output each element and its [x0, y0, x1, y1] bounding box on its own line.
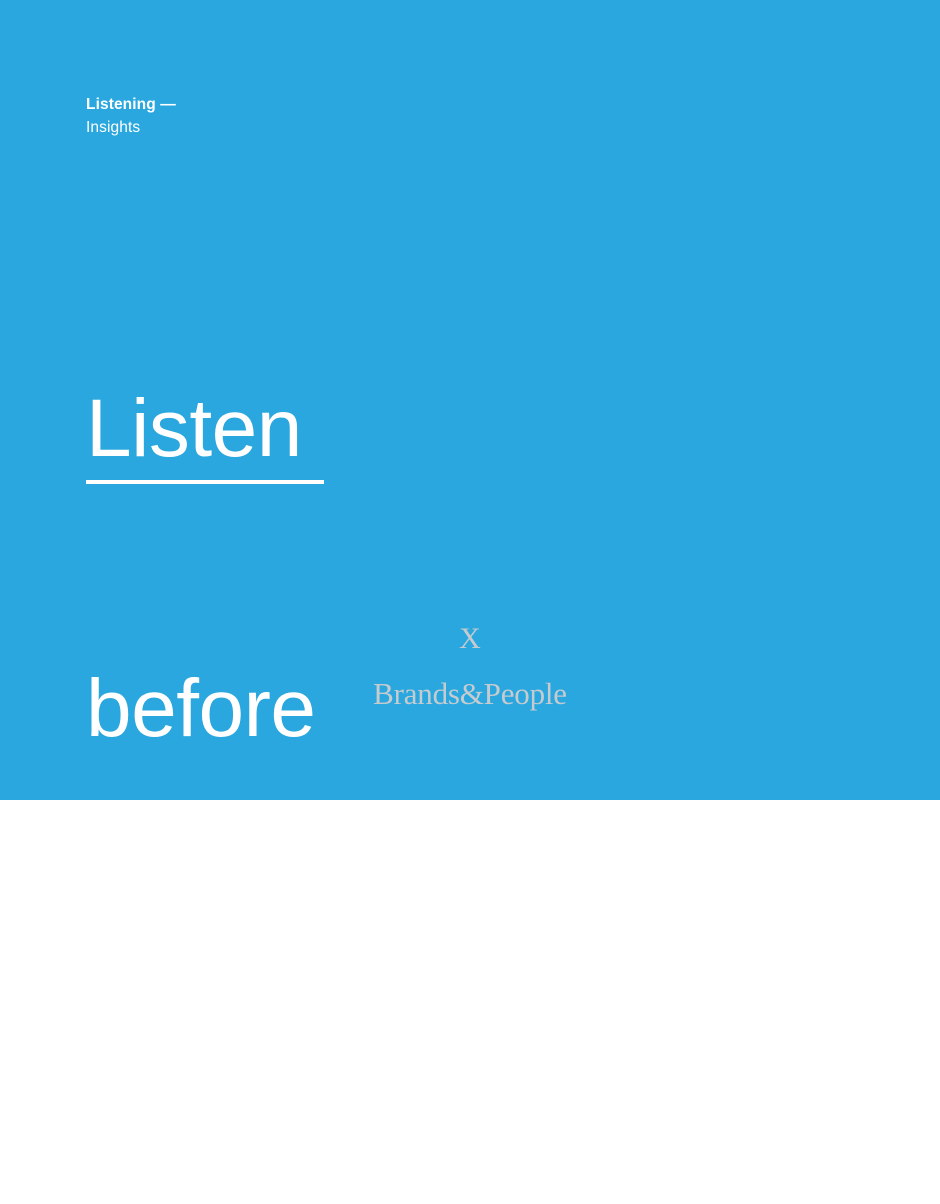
brand-wordmark: Brands&People	[373, 678, 567, 709]
slide-canvas: Listening — Insights Listen before you s…	[0, 0, 940, 800]
x-mark-icon: X	[459, 624, 481, 654]
headline-line-1: Listen	[86, 384, 455, 484]
eyebrow-subcategory: Insights	[86, 116, 176, 139]
headline-line-1-text: Listen	[86, 384, 324, 484]
headline-line-3: you speak	[86, 934, 455, 1024]
eyebrow-block: Listening — Insights	[86, 93, 176, 139]
eyebrow-category: Listening —	[86, 93, 176, 116]
brand-logo-lockup: X Brands&People	[0, 624, 940, 709]
